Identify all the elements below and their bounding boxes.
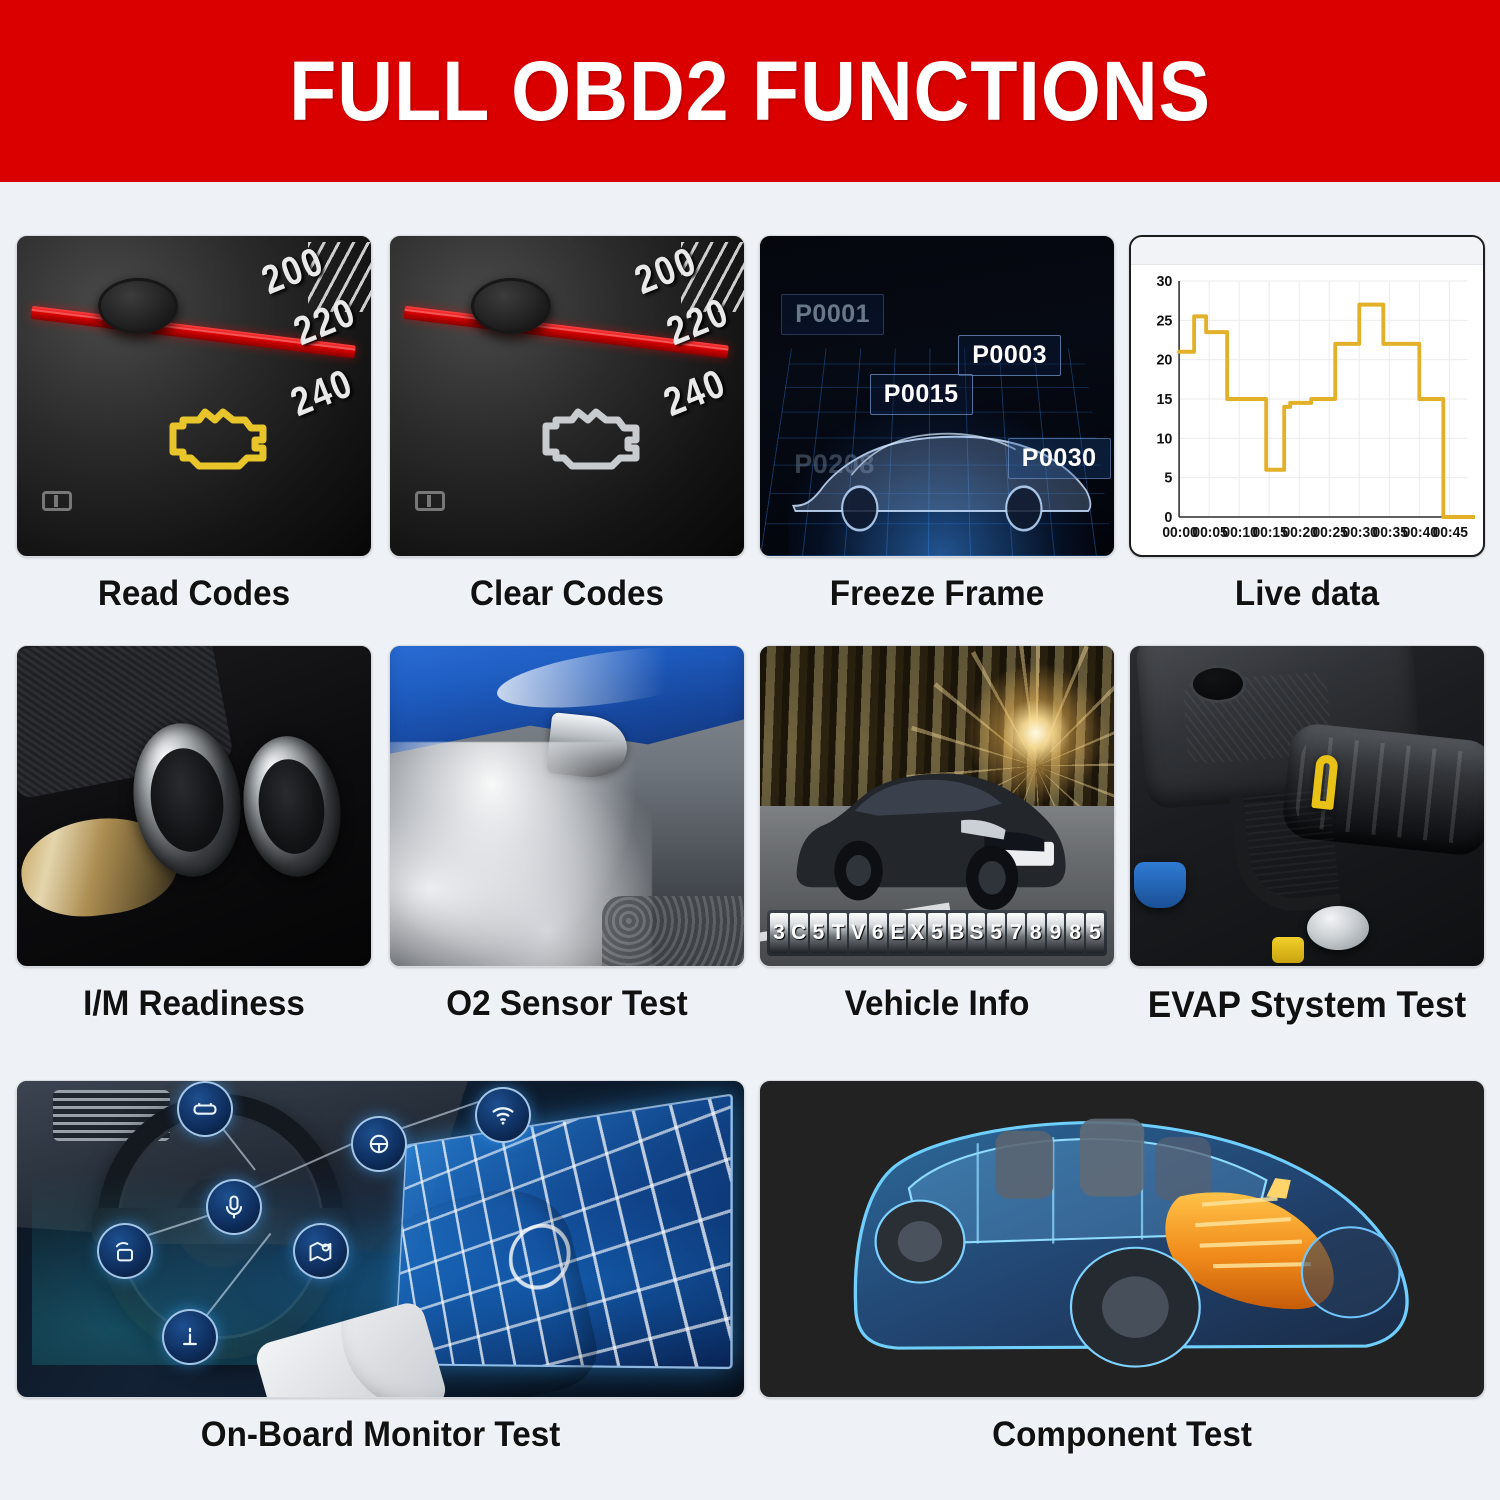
gravel-ground	[602, 896, 745, 967]
speedometer-hub	[98, 278, 178, 334]
evap-thumbnail	[1129, 645, 1485, 967]
steering-assist-icon[interactable]	[351, 1116, 407, 1172]
feature-label-evap-system-test: EVAP Stystem Test	[1138, 983, 1476, 1027]
vin-character: 9	[1047, 913, 1065, 953]
washer-fluid-cap	[1134, 862, 1186, 908]
feature-label-freeze-frame: Freeze Frame	[768, 573, 1106, 614]
vin-character: S	[968, 913, 986, 953]
info-icon[interactable]	[162, 1309, 218, 1365]
vin-character: 3	[770, 913, 788, 953]
vin-display-strip: 3C5TV6EX5BS578985	[767, 910, 1107, 956]
yellow-cap	[1272, 937, 1304, 963]
microphone-icon[interactable]	[206, 1179, 262, 1235]
feature-card-onboard-monitor[interactable]: On-Board Monitor Test	[16, 1080, 745, 1455]
check-engine-light-icon	[532, 396, 652, 476]
vin-character: E	[889, 913, 907, 953]
feature-label-read-codes: Read Codes	[25, 573, 363, 614]
feature-card-im-readiness[interactable]: I/M Readiness	[16, 645, 372, 1024]
component-test-thumbnail	[759, 1080, 1485, 1398]
feature-card-clear-codes[interactable]: 200 220 240 Clear Codes	[389, 235, 745, 614]
feature-card-read-codes[interactable]: 200 220 240 Read Codes	[16, 235, 372, 614]
chart-plot-area: 05101520253000:0000:0500:1000:1500:2000:…	[1131, 265, 1483, 557]
im-readiness-thumbnail	[16, 645, 372, 967]
door-ajar-icon	[42, 491, 72, 511]
feature-card-live-data[interactable]: 05101520253000:0000:0500:1000:1500:2000:…	[1129, 235, 1485, 614]
vin-character: 7	[1007, 913, 1025, 953]
feature-card-vehicle-info[interactable]: 3C5TV6EX5BS578985 Vehicle Info	[759, 645, 1115, 1024]
feature-label-component-test: Component Test	[777, 1414, 1467, 1455]
dtc-code-p0001: P0001	[781, 294, 884, 335]
freeze-frame-thumbnail: P0001 P0003 P0015 P0208 P0030	[759, 235, 1115, 557]
chart-y-tick-label: 0	[1164, 510, 1172, 526]
feature-card-component-test[interactable]: Component Test	[759, 1080, 1485, 1455]
onboard-monitor-thumbnail	[16, 1080, 745, 1398]
live-data-thumbnail: 05101520253000:0000:0500:1000:1500:2000:…	[1129, 235, 1485, 557]
vehicle-info-thumbnail: 3C5TV6EX5BS578985	[759, 645, 1115, 967]
chart-y-tick-label: 15	[1156, 392, 1172, 408]
vin-character: 5	[987, 913, 1005, 953]
feature-label-vehicle-info: Vehicle Info	[768, 983, 1106, 1024]
car-photo	[785, 732, 1075, 911]
exhaust-tip-right	[234, 730, 348, 883]
dtc-code-p0030: P0030	[1008, 438, 1111, 479]
radiator-cap	[1307, 906, 1369, 950]
vin-character: B	[948, 913, 966, 953]
feature-card-evap-system-test[interactable]: EVAP Stystem Test	[1129, 645, 1485, 1027]
door-ajar-icon	[415, 491, 445, 511]
chart-data-line	[1179, 305, 1475, 517]
vin-character: 5	[928, 913, 946, 953]
feature-label-im-readiness: I/M Readiness	[25, 983, 363, 1024]
feature-card-freeze-frame[interactable]: P0001 P0003 P0015 P0208 P0030 Freeze Fra…	[759, 235, 1115, 614]
feature-label-o2-sensor-test: O2 Sensor Test	[398, 983, 736, 1024]
speed-mark-240: 240	[284, 360, 359, 426]
clear-codes-thumbnail: 200 220 240	[389, 235, 745, 557]
vin-character: 5	[810, 913, 828, 953]
chart-y-tick-label: 25	[1156, 313, 1172, 329]
chart-y-tick-label: 5	[1164, 470, 1172, 486]
dtc-code-p0015: P0015	[870, 374, 973, 415]
o2-sensor-thumbnail	[389, 645, 745, 967]
chart-y-tick-label: 30	[1156, 274, 1172, 290]
read-codes-thumbnail: 200 220 240	[16, 235, 372, 557]
vin-character: 6	[869, 913, 887, 953]
feature-label-onboard-monitor: On-Board Monitor Test	[34, 1414, 727, 1455]
vin-character: 8	[1066, 913, 1084, 953]
speedometer-hub	[471, 278, 551, 334]
connected-car-icon[interactable]	[97, 1223, 153, 1279]
chart-y-tick-label: 10	[1156, 431, 1172, 447]
header-banner: FULL OBD2 FUNCTIONS	[0, 0, 1500, 182]
feature-grid: 200 220 240 Read Codes 200 220 240	[0, 182, 1500, 1500]
chart-x-tick-label: 00:45	[1433, 525, 1468, 541]
speed-mark-240: 240	[657, 360, 732, 426]
dtc-code-p0003: P0003	[958, 335, 1061, 376]
check-engine-light-icon	[159, 396, 279, 476]
feature-card-o2-sensor-test[interactable]: O2 Sensor Test	[389, 645, 745, 1024]
vin-character: 5	[1086, 913, 1104, 953]
dtc-code-p0208: P0208	[781, 444, 888, 485]
infographic-page: FULL OBD2 FUNCTIONS 200 220 240 Read Cod…	[0, 0, 1500, 1500]
vin-character: V	[849, 913, 867, 953]
vin-character: T	[829, 913, 847, 953]
airbag-icon[interactable]	[177, 1081, 233, 1137]
wifi-icon[interactable]	[475, 1087, 531, 1143]
chart-titlebar	[1131, 237, 1483, 265]
page-title: FULL OBD2 FUNCTIONS	[289, 43, 1211, 140]
chart-y-tick-label: 20	[1156, 352, 1172, 368]
vin-character: X	[908, 913, 926, 953]
vin-character: 8	[1027, 913, 1045, 953]
vin-character: C	[790, 913, 808, 953]
feature-label-live-data: Live data	[1138, 573, 1476, 614]
xray-car-diagram	[789, 1090, 1455, 1387]
live-data-chart: 05101520253000:0000:0500:1000:1500:2000:…	[1139, 271, 1475, 557]
feature-label-clear-codes: Clear Codes	[398, 573, 736, 614]
